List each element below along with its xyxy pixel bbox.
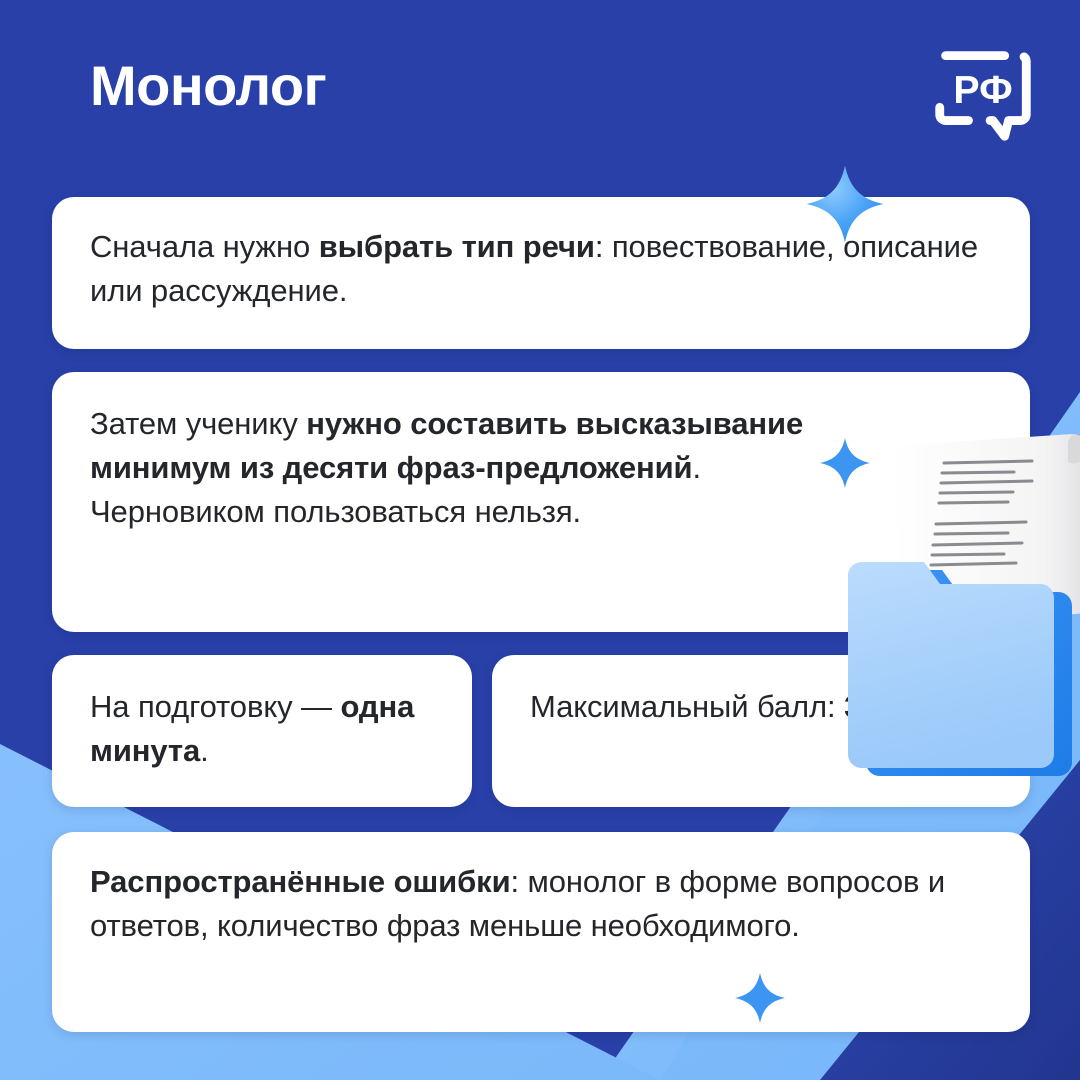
card-4-text: Максимальный балл: 3. xyxy=(530,685,890,729)
card-1-text: Сначала нужно выбрать тип речи: повество… xyxy=(90,225,1004,313)
card-maximum-score: Максимальный балл: 3. xyxy=(492,655,1030,807)
card-5-text: Распространённые ошибки: монолог в форме… xyxy=(90,860,1004,948)
card-build-statement: Затем ученику нужно составить высказыван… xyxy=(52,372,1030,632)
card-3-text: На подготовку — одна минута. xyxy=(90,685,452,773)
card-2-text: Затем ученику нужно составить высказыван… xyxy=(90,402,810,534)
card-common-mistakes: Распространённые ошибки: монолог в форме… xyxy=(52,832,1030,1032)
page-header: Монолог РФ xyxy=(0,0,1080,185)
card-preparation-time: На подготовку — одна минута. xyxy=(52,655,472,807)
card-choose-speech-type: Сначала нужно выбрать тип речи: повество… xyxy=(52,197,1030,349)
rf-logo-icon: РФ xyxy=(924,34,1042,152)
page-title: Монолог xyxy=(90,58,326,114)
rf-logo-text: РФ xyxy=(953,68,1012,112)
